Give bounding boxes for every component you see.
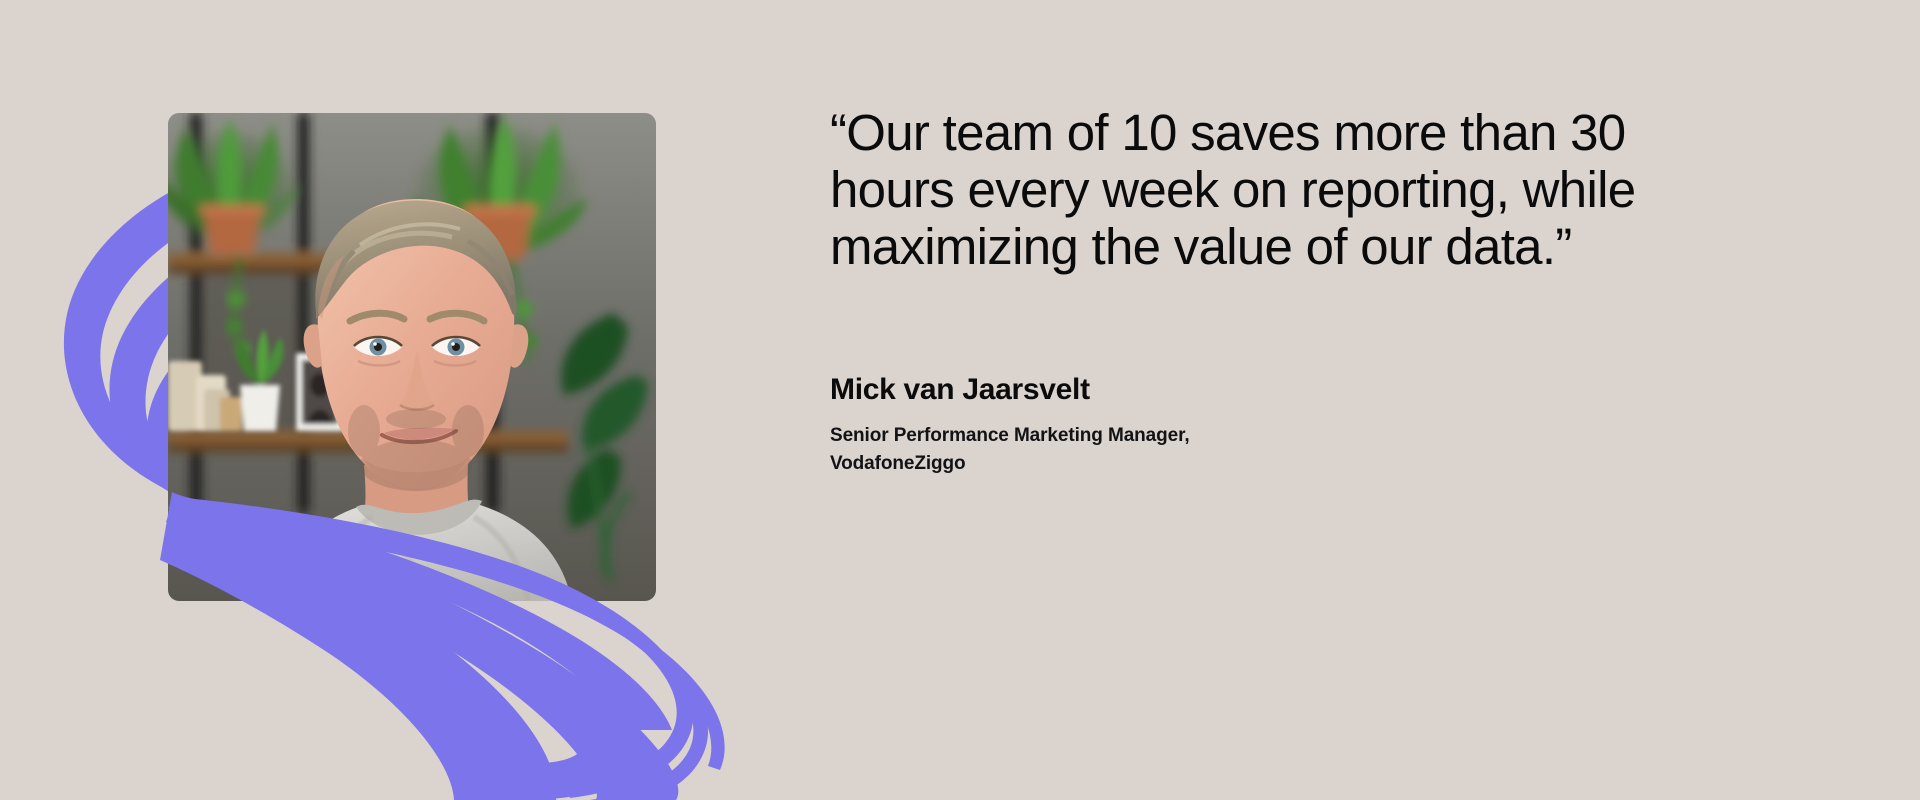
portrait-visual-group [0, 0, 780, 800]
testimonial-text-group: “Our team of 10 saves more than 30 hours… [830, 0, 1830, 800]
author-role-line-2: VodafoneZiggo [830, 453, 966, 474]
portrait-photo [168, 113, 656, 601]
testimonial-attribution: Mick van Jaarsvelt Senior Performance Ma… [830, 372, 1430, 478]
avatar [168, 113, 656, 601]
author-role: Senior Performance Marketing Manager, Vo… [830, 422, 1300, 478]
testimonial-quote: “Our team of 10 saves more than 30 hours… [830, 104, 1760, 275]
author-name: Mick van Jaarsvelt [830, 372, 1430, 408]
testimonial-card: “Our team of 10 saves more than 30 hours… [0, 0, 1920, 800]
author-role-line-1: Senior Performance Marketing Manager, [830, 425, 1190, 446]
